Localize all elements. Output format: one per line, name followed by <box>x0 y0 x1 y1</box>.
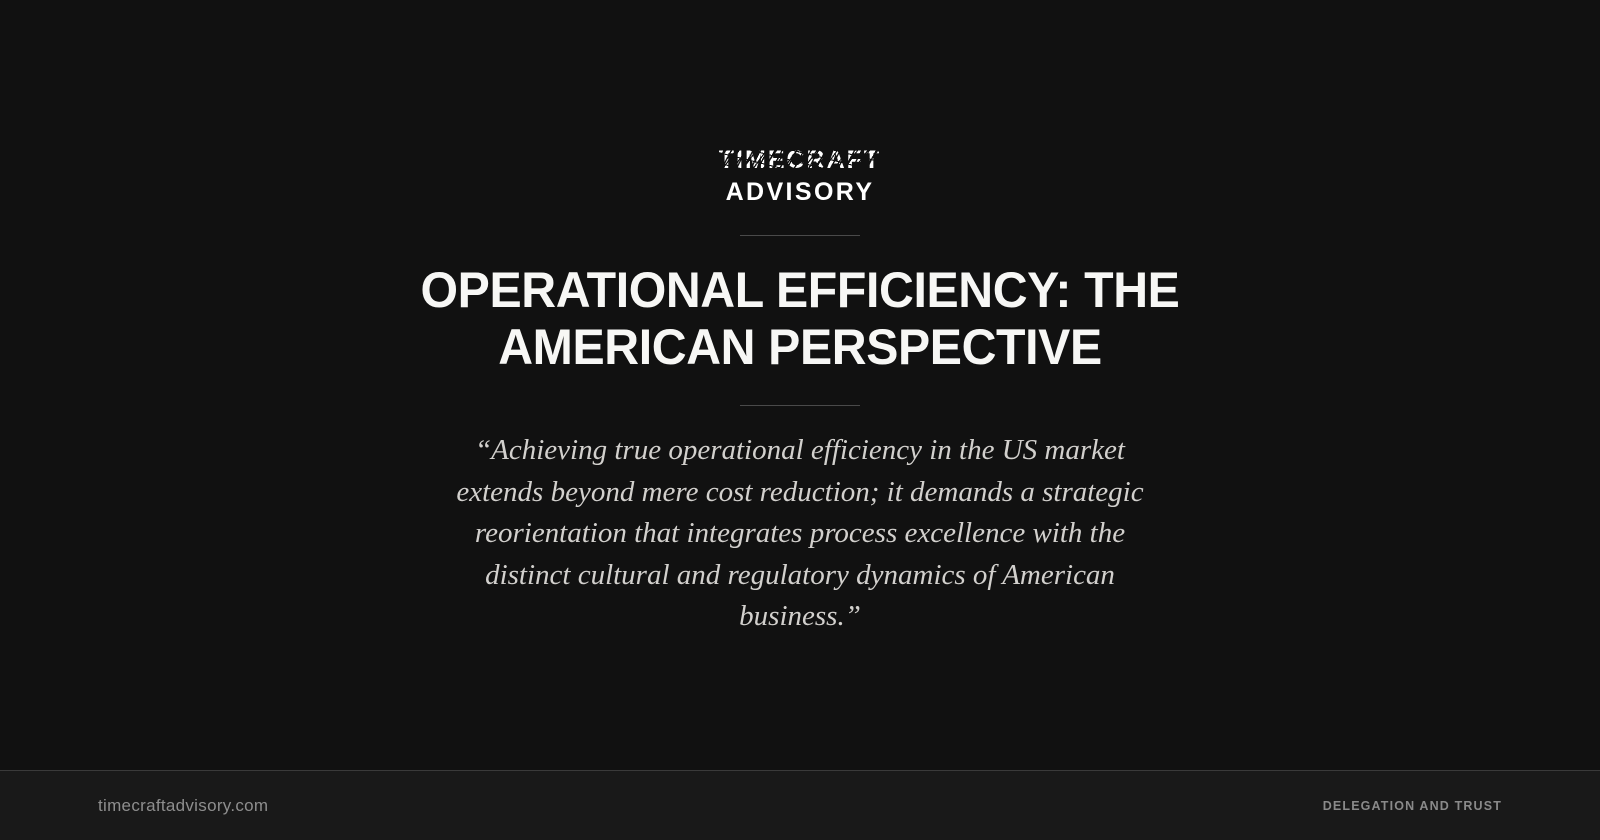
presentation-slide: TIMECRAFT ADVISORY Operational Efficienc… <box>0 0 1600 840</box>
slide-content: TIMECRAFT ADVISORY Operational Efficienc… <box>0 0 1600 770</box>
slide-quote: “Achieving true operational efficiency i… <box>450 430 1150 638</box>
logo-wordmark-primary: TIMECRAFT <box>719 148 881 173</box>
slide-footer: timecraftadvisory.com Delegation and Tru… <box>0 770 1600 840</box>
brand-logo: TIMECRAFT ADVISORY <box>719 148 881 205</box>
footer-website-url: timecraftadvisory.com <box>98 796 268 816</box>
footer-section-label: Delegation and Trust <box>1323 799 1502 813</box>
slide-title: Operational Efficiency: The American Per… <box>346 262 1253 376</box>
divider-above-title <box>740 235 860 236</box>
divider-below-title <box>740 405 860 406</box>
logo-wordmark-secondary: ADVISORY <box>726 180 875 205</box>
